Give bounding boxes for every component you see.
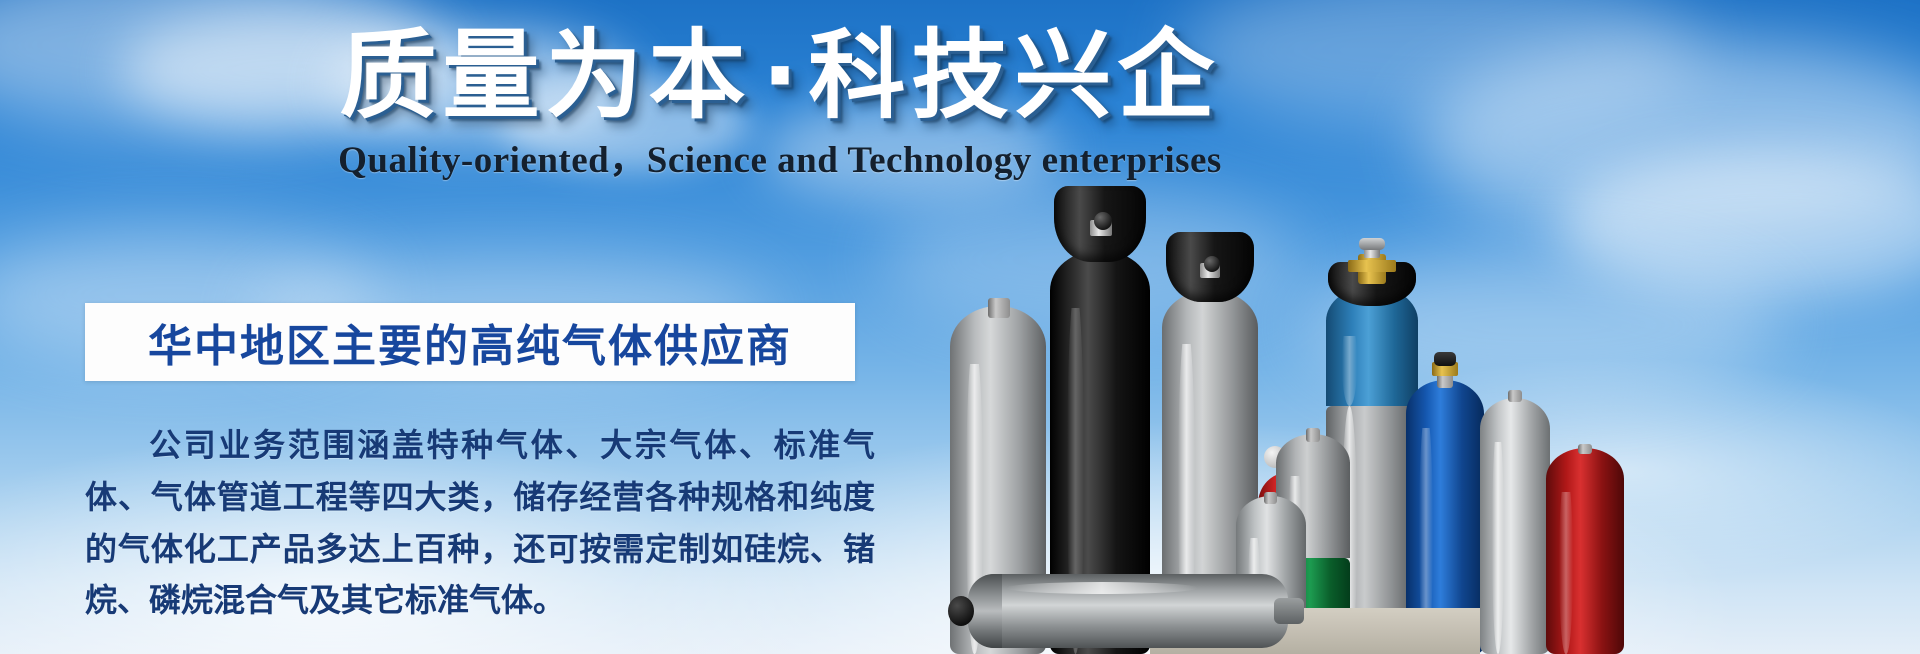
gas-cylinder-product-group xyxy=(940,150,1640,654)
cylinder-grey-horizontal xyxy=(968,574,1288,648)
promotional-banner: 质量为本·科技兴企 Quality-oriented，Science and T… xyxy=(0,0,1920,654)
intro-paragraph: 公司业务范围涵盖特种气体、大宗气体、标准气体、气体管道工程等四大类，储存经营各种… xyxy=(85,420,875,627)
page-title: 质量为本·科技兴企 xyxy=(0,24,1560,129)
tagline-text: 华中地区主要的高纯气体供应商 xyxy=(148,310,792,374)
headline-separator-dot: · xyxy=(752,19,809,132)
tagline-box: 华中地区主要的高纯气体供应商 xyxy=(85,303,855,381)
headline-part-2: 科技兴企 xyxy=(808,19,1220,132)
cylinder-red-dark-right xyxy=(1546,446,1624,654)
cylinder-aluminium-plain xyxy=(1480,392,1550,654)
headline-part-1: 质量为本 xyxy=(340,19,752,132)
